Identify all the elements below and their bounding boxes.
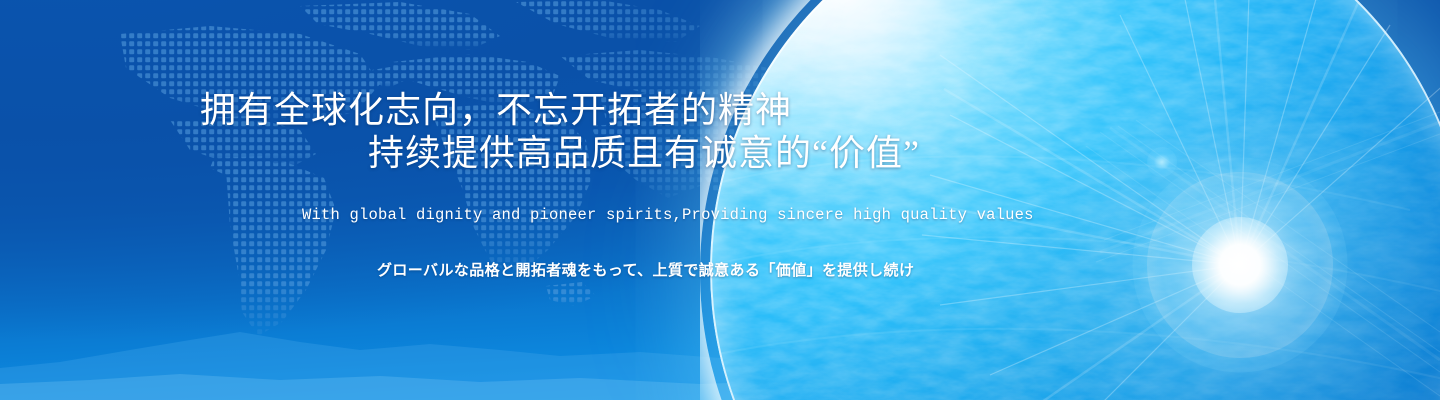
- subtitle-japanese: グローバルな品格と開拓者魂をもって、上質で誠意ある「価値」を提供し続け: [377, 259, 914, 280]
- headline-line-2: 持续提供高品质且有诚意的“价值”: [368, 131, 920, 175]
- hero-banner: 拥有全球化志向，不忘开拓者的精神 持续提供高品质且有诚意的“价值” With g…: [0, 0, 1440, 400]
- sun-glow-core: [1192, 217, 1288, 313]
- subtitle-english: With global dignity and pioneer spirits,…: [302, 206, 1034, 224]
- headline-line-1: 拥有全球化志向，不忘开拓者的精神: [200, 88, 792, 132]
- lens-flare-dot-icon: [1147, 147, 1177, 177]
